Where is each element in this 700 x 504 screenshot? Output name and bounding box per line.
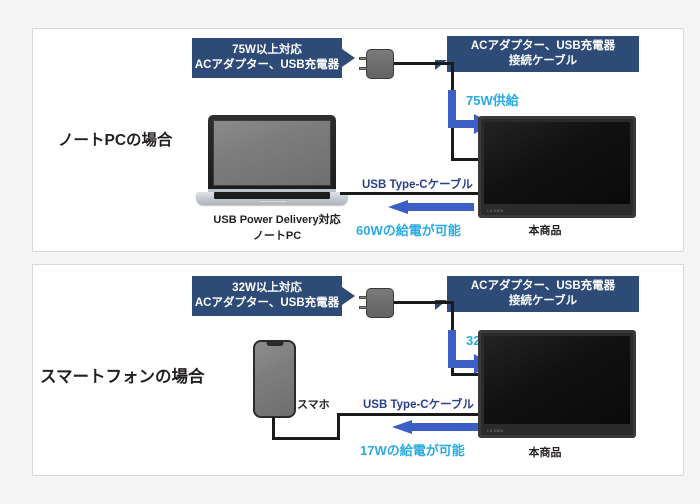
callout-connection-cable-smartphone-line2: 接続ケーブル bbox=[509, 294, 577, 309]
callout-connection-cable-laptop-line1: ACアダプター、USB充電器 bbox=[471, 39, 615, 54]
monitor-screen bbox=[484, 122, 630, 204]
smartphone-notch bbox=[266, 342, 283, 346]
monitor-bezel: I-O DATA bbox=[481, 119, 633, 215]
callout-ac-adapter-laptop-line2: ACアダプター、USB充電器 bbox=[195, 58, 339, 73]
cable-adapter-to-monitor-h1-phone bbox=[394, 301, 454, 304]
diagram-root: ノートPCの場合 75W以上対応 ACアダプター、USB充電器 ACアダプター、… bbox=[0, 0, 700, 504]
cable-usbc-phone-h1 bbox=[272, 437, 340, 440]
smartphone-icon bbox=[253, 340, 296, 418]
laptop-device-label: USB Power Delivery対応 ノートPC bbox=[202, 212, 352, 244]
laptop-keyboard bbox=[214, 192, 330, 199]
monitor-logo: I-O DATA bbox=[487, 209, 504, 213]
callout-ac-adapter-smartphone: 32W以上対応 ACアダプター、USB充電器 bbox=[192, 276, 342, 316]
monitor-screen bbox=[484, 336, 630, 424]
callout-ac-adapter-laptop-line1: 75W以上対応 bbox=[232, 43, 302, 58]
charge-flow-arrow-icon-smartphone bbox=[390, 420, 480, 436]
callout-ac-adapter-smartphone-line2: ACアダプター、USB充電器 bbox=[195, 296, 339, 311]
monitor-label-smartphone-case: 本商品 bbox=[505, 444, 585, 460]
callout-connection-cable-laptop: ACアダプター、USB充電器 接続ケーブル bbox=[447, 36, 639, 72]
cable-caption-laptop: USB Type-Cケーブル bbox=[362, 176, 473, 192]
panel-laptop-title: ノートPCの場合 bbox=[58, 128, 173, 150]
supply-label-laptop: 75W供給 bbox=[466, 90, 519, 109]
ac-adapter-prong-icon bbox=[359, 67, 367, 70]
callout-ac-adapter-smartphone-line1: 32W以上対応 bbox=[232, 281, 302, 296]
ac-adapter-icon-smartphone bbox=[366, 288, 394, 318]
monitor-label-laptop-case: 本商品 bbox=[505, 222, 585, 238]
smartphone-device-label: スマホ bbox=[297, 396, 330, 412]
laptop-screen bbox=[213, 120, 331, 186]
callout-connection-cable-smartphone-line1: ACアダプター、USB充電器 bbox=[471, 279, 615, 294]
ac-adapter-prong-icon bbox=[359, 296, 367, 299]
charge-flow-arrow-icon-laptop bbox=[386, 200, 476, 216]
cable-usbc-laptop-to-monitor bbox=[340, 192, 482, 195]
laptop-trackpad bbox=[258, 200, 288, 203]
cable-caption-smartphone: USB Type-Cケーブル bbox=[363, 396, 474, 412]
cable-usbc-phone-to-monitor bbox=[337, 413, 483, 416]
callout-ac-adapter-laptop: 75W以上対応 ACアダプター、USB充電器 bbox=[192, 38, 342, 78]
laptop-icon bbox=[196, 115, 348, 208]
ac-adapter-prong-icon bbox=[359, 306, 367, 309]
charge-label-laptop: 60Wの給電が可能 bbox=[356, 220, 461, 239]
panel-smartphone-title: スマートフォンの場合 bbox=[40, 363, 205, 387]
monitor-icon-laptop-case: I-O DATA bbox=[478, 116, 636, 218]
laptop-device-label-line1: USB Power Delivery対応 bbox=[202, 212, 352, 228]
cable-usbc-phone-v2 bbox=[337, 413, 340, 440]
ac-adapter-icon-laptop bbox=[366, 49, 394, 79]
laptop-device-label-line2: ノートPC bbox=[202, 228, 352, 244]
cable-adapter-to-monitor-h1 bbox=[394, 62, 454, 65]
callout-connection-cable-smartphone: ACアダプター、USB充電器 接続ケーブル bbox=[447, 276, 639, 312]
charge-label-smartphone: 17Wの給電が可能 bbox=[360, 440, 465, 459]
laptop-lid bbox=[208, 115, 336, 191]
monitor-icon-smartphone-case: I-O DATA bbox=[478, 330, 636, 438]
ac-adapter-prong-icon bbox=[359, 57, 367, 60]
monitor-bezel: I-O DATA bbox=[481, 333, 633, 435]
callout-connection-cable-laptop-line2: 接続ケーブル bbox=[509, 54, 577, 69]
monitor-logo: I-O DATA bbox=[487, 429, 504, 433]
